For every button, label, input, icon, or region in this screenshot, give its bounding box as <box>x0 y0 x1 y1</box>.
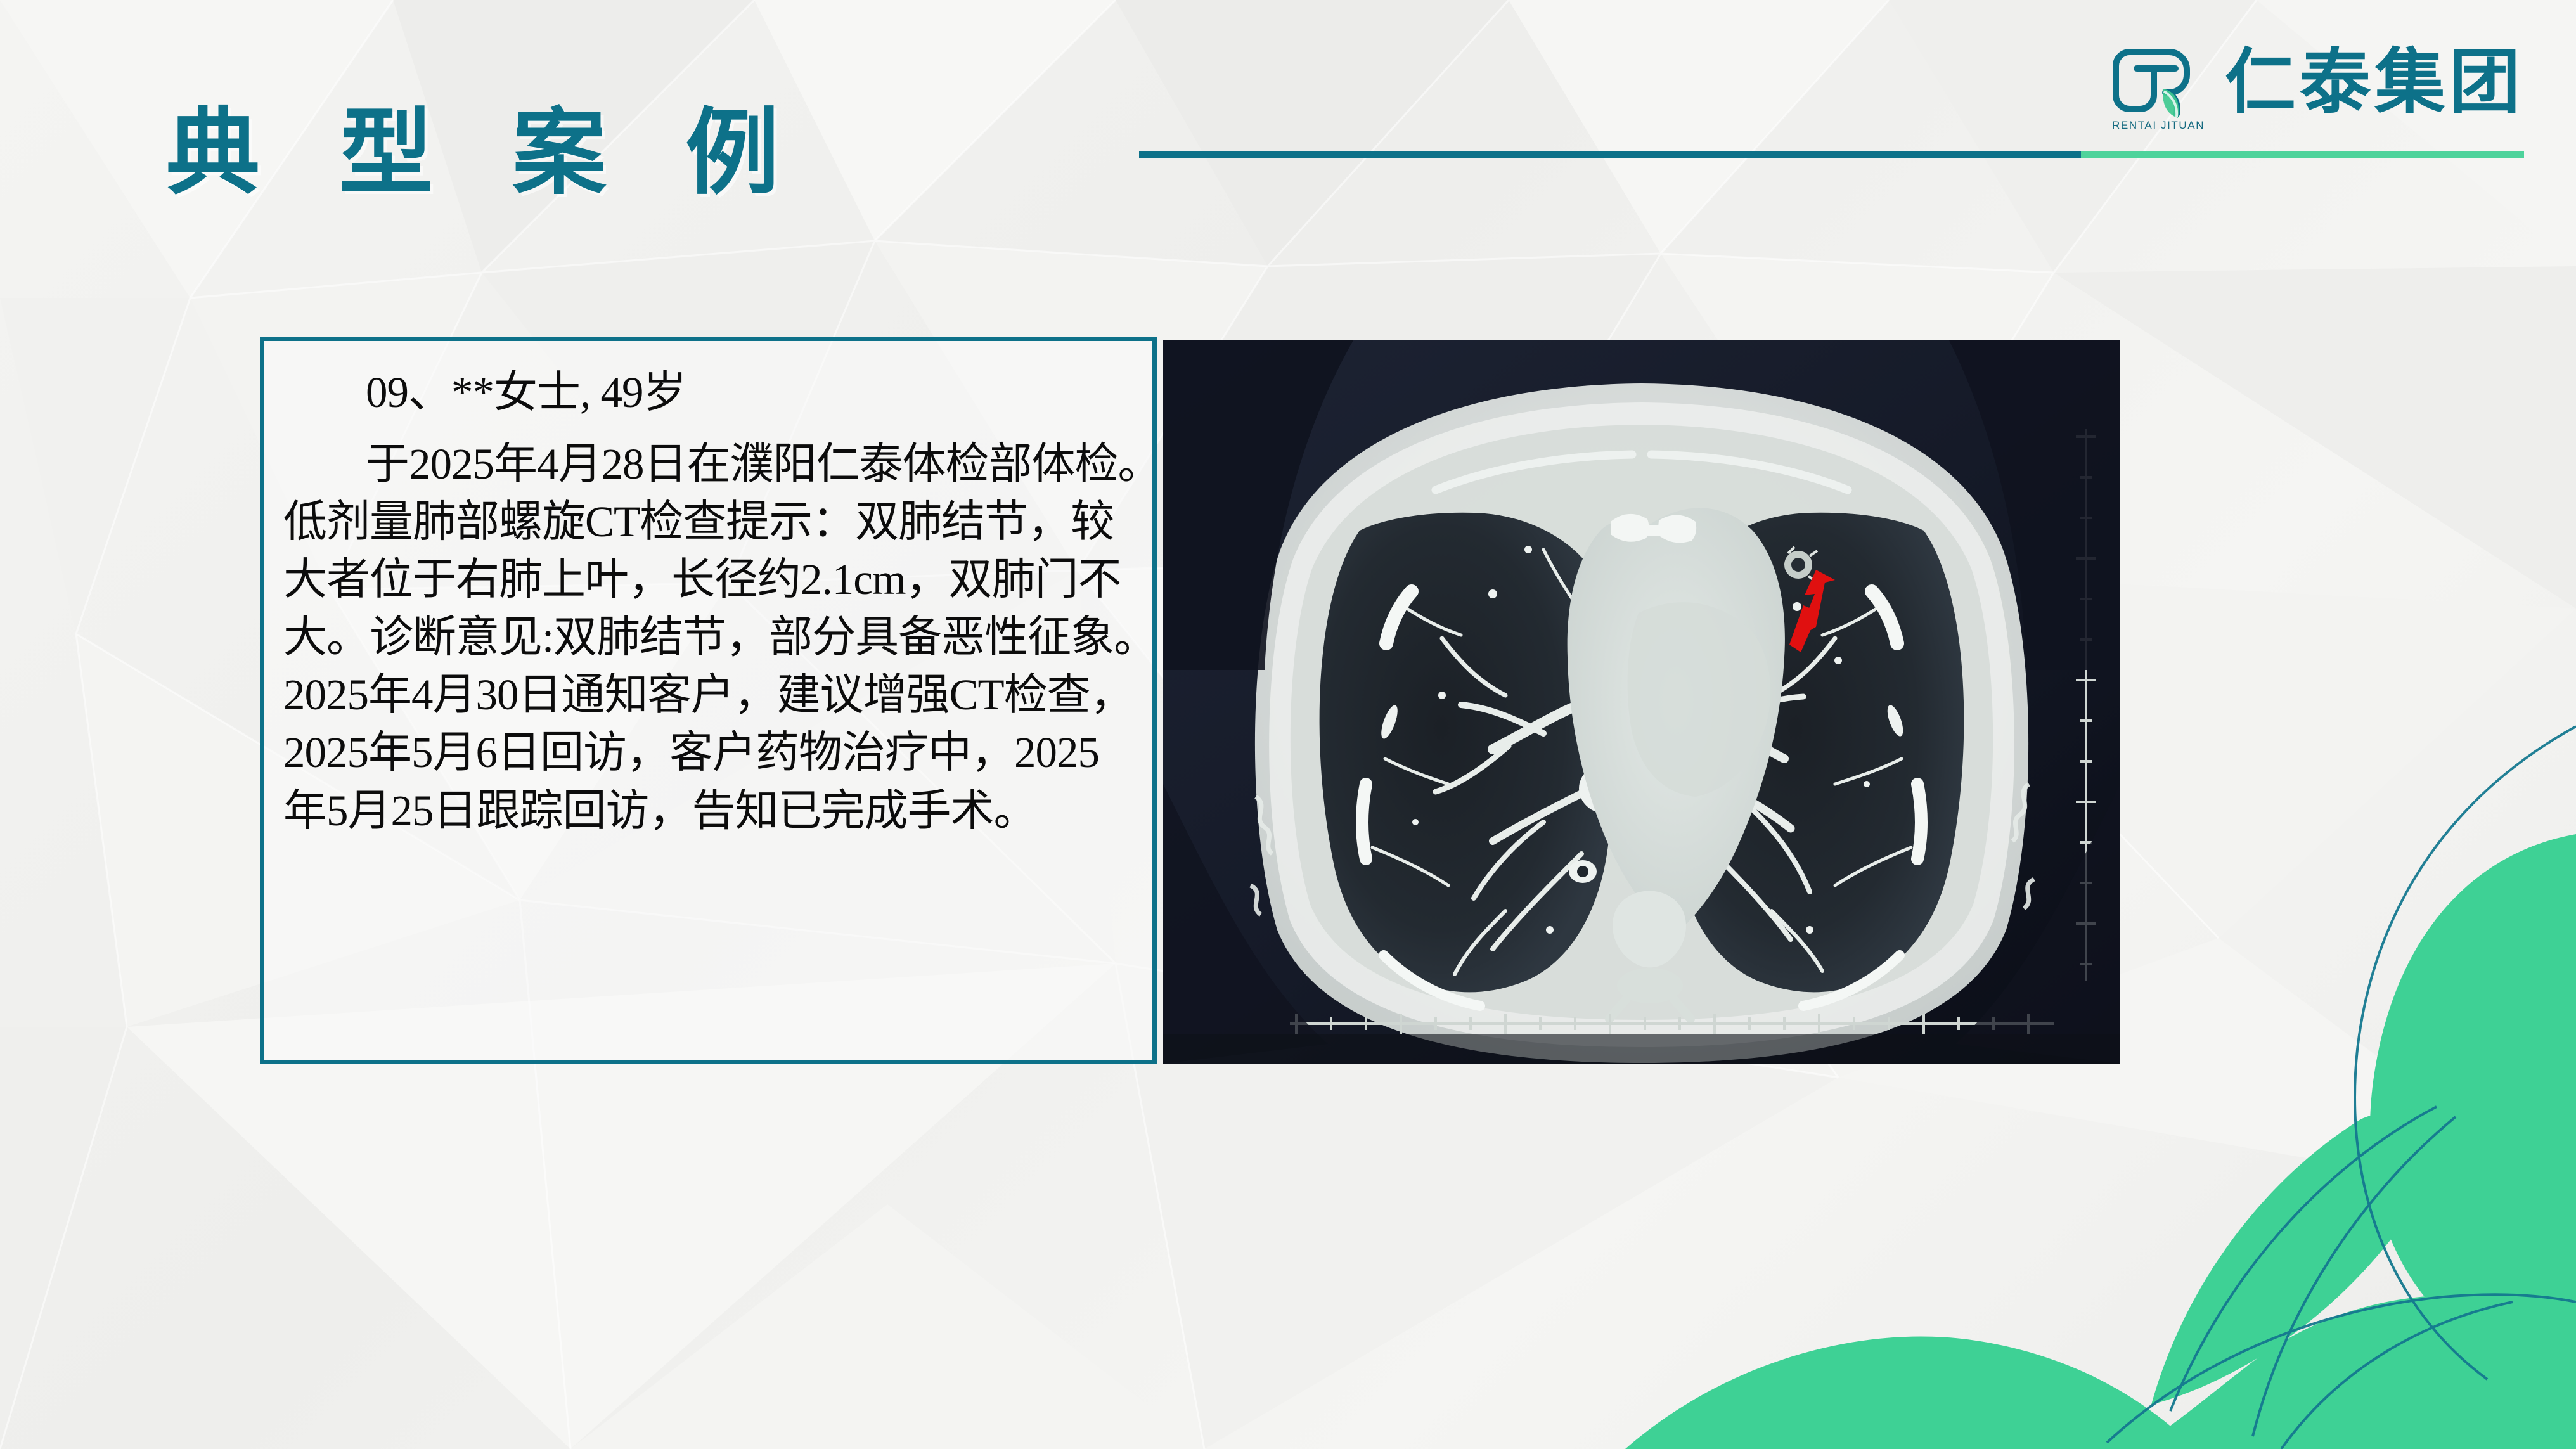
case-line: 于2025年4月28日在濮阳仁泰体检部体检。 <box>283 435 1123 493</box>
slide-canvas: 典 型 案 例 RENTAI JITUAN 仁泰集团 09、**女士, 49 <box>0 0 2576 1449</box>
case-line: 大者位于右肺上叶，长径约2.1cm，双肺门不 <box>283 551 1123 609</box>
logo-pinyin: RENTAI JITUAN <box>2112 119 2202 132</box>
logo-wordmark: 仁泰集团 <box>2225 47 2524 126</box>
divider-segment-teal <box>1139 151 2081 158</box>
page-title: 典 型 案 例 <box>166 106 806 200</box>
case-line: 低剂量肺部螺旋CT检查提示：双肺结节，较 <box>283 493 1123 551</box>
case-line: 年5月25日跟踪回访，告知已完成手术。 <box>283 782 1123 840</box>
case-description-box: 09、**女士, 49岁 于2025年4月28日在濮阳仁泰体检部体检。 低剂量肺… <box>260 337 1157 1064</box>
ct-scan-image <box>1163 340 2120 1064</box>
case-line: 大。诊断意见:双肺结节，部分具备恶性征象。 <box>283 609 1123 666</box>
case-line: 09、**女士, 49岁 <box>283 364 1123 422</box>
header-divider <box>1139 151 2524 158</box>
logo-mark-icon: RENTAI JITUAN <box>2108 39 2203 133</box>
divider-segment-green <box>2081 151 2524 158</box>
case-line: 2025年5月6日回访，客户药物治疗中，2025 <box>283 724 1123 782</box>
case-line: 2025年4月30日通知客户，建议增强CT检查， <box>283 666 1123 724</box>
company-logo: RENTAI JITUAN 仁泰集团 <box>2108 39 2524 133</box>
